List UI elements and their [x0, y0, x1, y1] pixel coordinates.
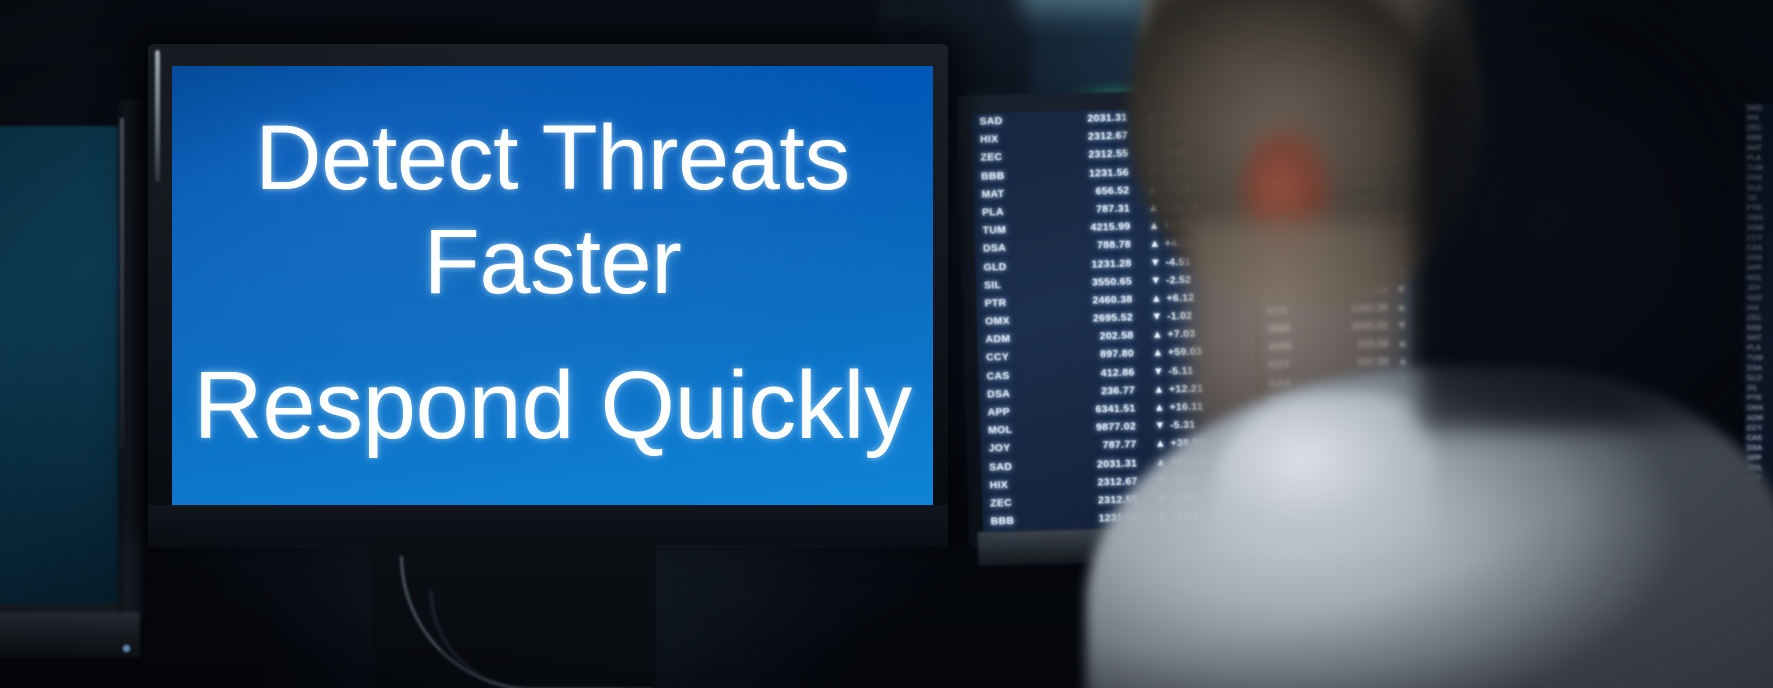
ticker-price: 1231.56 [1037, 166, 1143, 181]
ticker-symbol: GLD [983, 260, 1039, 274]
arrow-down-icon: ▼ [1146, 274, 1166, 287]
ticker-symbol: ZEC [980, 150, 1036, 164]
ticker-price: 787.77 [1044, 438, 1150, 453]
left-monitor-screen[interactable] [0, 126, 136, 614]
arrow-up-icon: ▲ [1146, 292, 1166, 305]
background-monitor-glow-secondary [1020, 0, 1150, 26]
arrow-up-icon: ▲ [1150, 438, 1170, 451]
arrow-up-icon: ▲ [1147, 329, 1167, 342]
ticker-price: 2695.52 [1041, 311, 1147, 326]
arrow-up-icon: ▲ [1148, 347, 1168, 360]
ticker-price: 2460.38 [1040, 293, 1146, 308]
ticker-symbol: DSA [987, 387, 1043, 401]
arrow-up-icon: ▲ [1149, 401, 1169, 414]
ticker-price: 656.52 [1037, 184, 1143, 199]
right-dark-falloff [1420, 0, 1773, 430]
ticker-symbol: SIL [984, 278, 1040, 292]
arrow-up-icon: ▲ [1145, 238, 1165, 251]
ticker-symbol: ADM [985, 332, 1041, 346]
power-led-icon [122, 644, 131, 653]
ticker-symbol: SAD [989, 460, 1045, 474]
ticker-symbol: PTR [984, 296, 1040, 310]
ticker-price: 787.31 [1038, 202, 1144, 217]
ticker-symbol: PLA [982, 205, 1038, 219]
ticker-row: DSA [1744, 444, 1773, 454]
ticker-price: 3550.65 [1040, 275, 1146, 290]
ticker-price: 4215.99 [1038, 220, 1144, 235]
ticker-row: CAS [1744, 434, 1773, 444]
headline-line-1: Detect Threats [255, 106, 850, 210]
ticker-symbol: MOL [988, 423, 1044, 437]
arrow-down-icon: ▼ [1150, 420, 1170, 433]
headline-block: Detect Threats Faster Respond Quickly [172, 66, 933, 505]
ticker-price: 1231.28 [1039, 257, 1145, 272]
ticker-price: 897.80 [1042, 347, 1148, 362]
ticker-symbol: TUM [982, 223, 1038, 237]
ticker-price: 2312.55 [1036, 147, 1142, 162]
arrow-up-icon: ▲ [1149, 383, 1169, 396]
ticker-price: 2312.67 [1036, 129, 1142, 144]
ticker-price: 788.78 [1039, 238, 1145, 253]
ticker-symbol: OMX [985, 314, 1041, 328]
ticker-price: 2031.31 [1035, 111, 1141, 126]
ticker-symbol: HIX [980, 132, 1036, 146]
ticker-price: 202.58 [1041, 329, 1147, 344]
ticker-price: 9877.02 [1044, 420, 1150, 435]
ticker-symbol: ZEC [990, 496, 1046, 510]
ticker-symbol: BBB [981, 169, 1037, 183]
left-monitor-base [0, 612, 140, 658]
ticker-symbol: DSA [983, 241, 1039, 255]
ticker-symbol: SAD [979, 114, 1035, 128]
left-monitor-edge-highlight [120, 118, 124, 448]
main-monitor-edge-highlight [155, 50, 160, 182]
ticker-symbol: JOY [988, 441, 1044, 455]
ticker-symbol: HIX [989, 478, 1045, 492]
ticker-symbol: CAS [986, 369, 1042, 383]
soc-scene: SADHIXZECBBBMATPLATUMDSAGLDSILPTROMXADMC… [0, 0, 1773, 688]
headline-line-2: Faster [424, 210, 682, 314]
ticker-price: 6341.51 [1043, 402, 1149, 417]
ticker-price: 412.86 [1042, 366, 1148, 381]
ticker-price: 2031.31 [1045, 457, 1151, 472]
arrow-down-icon: ▼ [1145, 256, 1165, 269]
headline-line-3: Respond Quickly [193, 354, 911, 458]
ticker-symbol: CCY [986, 350, 1042, 364]
ticker-symbol: BBB [990, 514, 1046, 528]
ticker-symbol: APP [987, 405, 1043, 419]
arrow-down-icon: ▼ [1148, 365, 1168, 378]
main-monitor-screen[interactable]: Detect Threats Faster Respond Quickly [172, 66, 933, 505]
ticker-price: 236.77 [1043, 384, 1149, 399]
arrow-down-icon: ▼ [1147, 311, 1167, 324]
ticker-symbol: MAT [981, 187, 1037, 201]
